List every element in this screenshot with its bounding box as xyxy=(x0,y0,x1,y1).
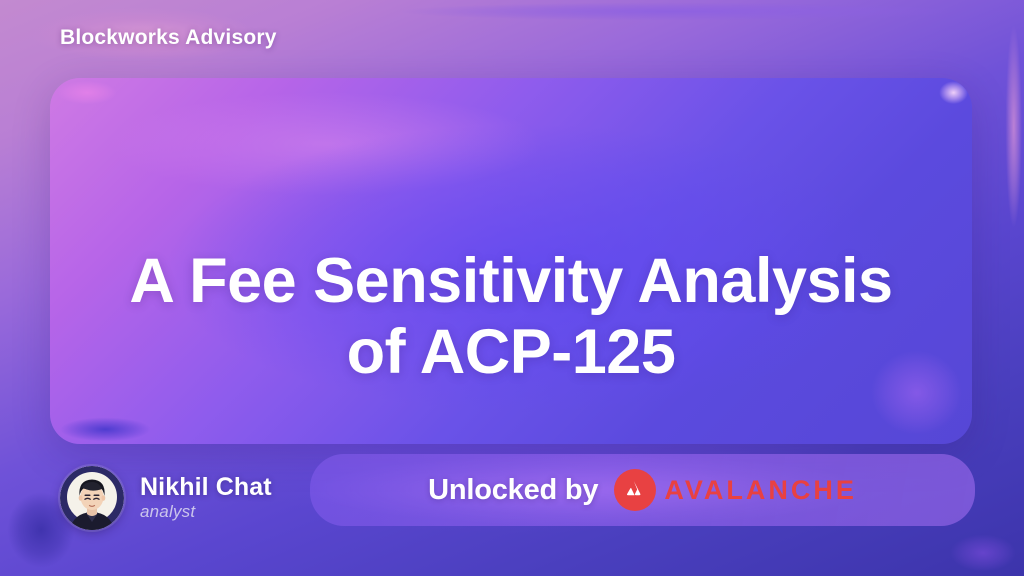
author-name: Nikhil Chat xyxy=(140,474,272,502)
author-text: Nikhil Chat analyst xyxy=(140,474,272,523)
page-title: A Fee Sensitivity Analysis of ACP-125 xyxy=(50,246,972,387)
sponsor-logo[interactable]: AVALANCHE xyxy=(614,469,857,511)
sponsor-banner: Unlocked by AVALANCHE xyxy=(310,454,975,526)
brand-title: Blockworks Advisory xyxy=(60,26,277,50)
report-card-canvas: Blockworks Advisory A Fee Sensitivity An… xyxy=(0,0,1024,576)
footer-row: Nikhil Chat analyst Unlocked by AVALANCH… xyxy=(0,444,1024,576)
person-avatar-icon xyxy=(60,466,124,530)
avatar xyxy=(60,466,124,530)
author-role: analyst xyxy=(140,502,272,522)
avalanche-wordmark: AVALANCHE xyxy=(664,477,857,504)
author-block: Nikhil Chat analyst xyxy=(60,466,272,530)
avalanche-logo-icon xyxy=(614,469,656,511)
sponsor-label: Unlocked by xyxy=(428,474,598,507)
hero-card: A Fee Sensitivity Analysis of ACP-125 xyxy=(50,78,972,444)
